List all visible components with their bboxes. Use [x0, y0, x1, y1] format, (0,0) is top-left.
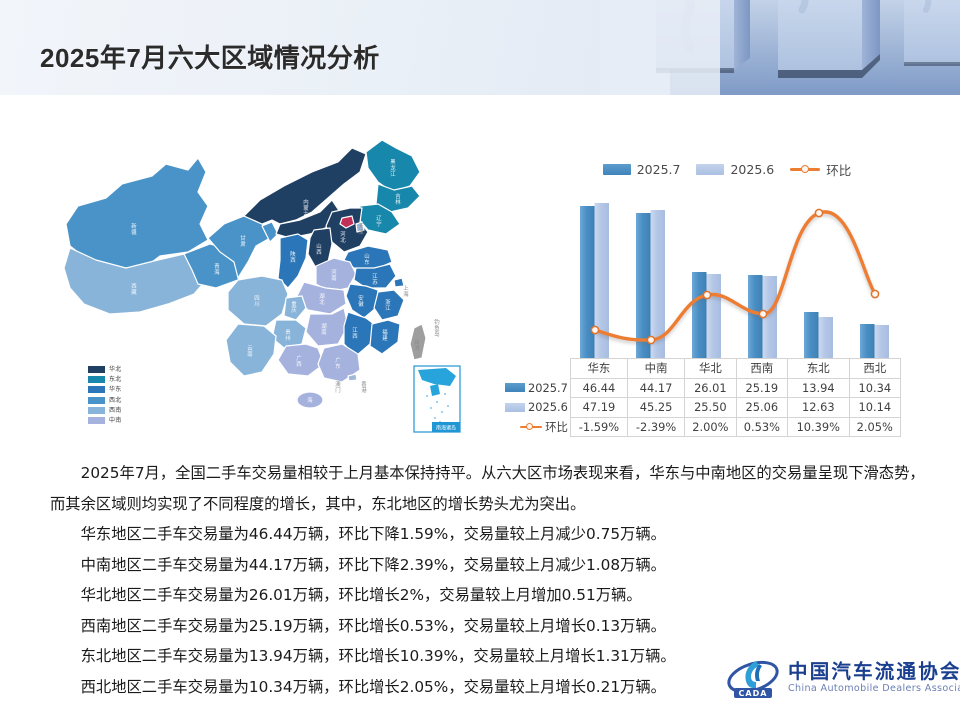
south-china-sea-inset: 南海诸岛: [414, 366, 460, 432]
legend-label-2025-6: 2025.6: [730, 162, 774, 177]
map-label-taiwan: 台: [414, 338, 419, 346]
map-label-macau: 澳: [335, 380, 341, 388]
line-markers: [591, 209, 878, 343]
svg-text:藏: 藏: [131, 288, 137, 296]
table-cell: 25.50: [685, 398, 736, 418]
bar-2025-7-huabei: [692, 272, 707, 358]
bar-2025-7-huadong: [580, 206, 595, 358]
table-cell: 0.53%: [736, 417, 787, 437]
svg-text:南: 南: [247, 350, 253, 358]
map-label-sichuan: 四: [254, 295, 259, 302]
table-col-header: 东北: [788, 359, 849, 379]
line-point-dongbei: [815, 209, 822, 216]
map-label-guangxi: 广: [296, 354, 302, 362]
table-cell: 12.63: [788, 398, 849, 418]
row-label: 2025.6: [528, 400, 568, 414]
line-point-xibei: [871, 290, 878, 297]
svg-text:南: 南: [321, 328, 327, 336]
svg-text:海: 海: [403, 290, 409, 298]
table-cell: -2.39%: [628, 417, 685, 437]
bar-2025-7-xibei: [860, 324, 875, 358]
legend-label-huanbi: 环比: [826, 160, 851, 179]
svg-text:庆: 庆: [291, 306, 297, 314]
table-cell: 46.44: [570, 378, 627, 398]
table-col-header: 西北: [849, 359, 900, 379]
svg-text:西: 西: [290, 257, 296, 264]
table-corner-cell: [505, 359, 570, 379]
table-row-header-2025-7: 2025.7: [505, 378, 570, 398]
table-cell: 47.19: [570, 398, 627, 418]
map-label-neimenggu: 内: [303, 198, 308, 206]
table-col-header: 中南: [628, 359, 685, 379]
legend-label: 华北: [109, 366, 122, 373]
chart-legend-item-huanbi[interactable]: 环比: [790, 160, 851, 179]
map-label-shaanxi: 陕: [290, 250, 296, 258]
map-label-liaoning: 辽: [376, 214, 382, 222]
map-label-fujian: 福: [382, 328, 388, 336]
region-combo-chart: 2025.7 2025.6 环比: [505, 158, 905, 448]
legend-label: 中南: [109, 417, 122, 424]
region-line-huadong: 华东地区二手车交易量为46.44万辆，环比下降1.59%，交易量较上月减少0.7…: [50, 519, 930, 550]
map-legend-item-dongbei: 东北: [88, 374, 122, 384]
table-cell: 10.14: [849, 398, 900, 418]
svg-text:川: 川: [254, 302, 259, 308]
legend-swatch-2025-6: [696, 164, 724, 175]
map-label-shandong: 山: [364, 252, 369, 260]
svg-text:北: 北: [319, 298, 325, 306]
chart-legend: 2025.7 2025.6 环比: [577, 158, 877, 180]
row-label: 2025.7: [528, 381, 568, 395]
map-label-gansu: 甘: [240, 234, 246, 242]
bar-2025-7-dongbei: [804, 312, 819, 358]
map-label-yunnan: 云: [247, 345, 253, 352]
legend-label: 西南: [109, 407, 122, 414]
svg-text:门: 门: [335, 386, 340, 394]
map-label-shanghai: 上: [403, 284, 409, 292]
table-col-header: 华北: [685, 359, 736, 379]
svg-text:东: 东: [335, 362, 341, 370]
svg-text:南: 南: [331, 274, 337, 282]
table-cell: 45.25: [628, 398, 685, 418]
svg-text:西: 西: [352, 333, 358, 340]
legend-label: 西北: [109, 397, 122, 404]
svg-text:西: 西: [296, 361, 302, 368]
intro-paragraph: 2025年7月，全国二手车交易量相较于上月基本保持持平。从六大区市场表现来看，华…: [50, 458, 930, 519]
map-label-tianjin: 天: [358, 223, 364, 230]
map-label-jilin: 吉: [395, 193, 401, 200]
map-legend-item-huabei: 华北: [88, 364, 122, 374]
svg-text:岛: 岛: [434, 330, 439, 338]
table-cell: 2.05%: [849, 417, 900, 437]
svg-text:州: 州: [285, 336, 290, 342]
line-point-huabei: [703, 291, 710, 298]
cada-emblem-icon: CADA: [726, 655, 780, 701]
slide-header: 2025年7月六大区域情况分析: [0, 0, 960, 95]
svg-text:建: 建: [382, 334, 388, 342]
chart-svg: [563, 188, 899, 358]
table-header-row: 华东 中南 华北 西南 东北 西北: [505, 359, 901, 379]
bar-2025-6-huabei: [707, 274, 722, 358]
map-label-shanxi: 山: [316, 242, 321, 250]
map-legend-item-huadong: 华东: [88, 385, 122, 395]
svg-text:林: 林: [395, 198, 401, 206]
table-col-header: 西南: [736, 359, 787, 379]
cada-logo-text: 中国汽车流通协会 China Automobile Dealers Associ…: [788, 661, 960, 695]
map-label-hongkong: 香: [361, 380, 367, 388]
map-label-zhejiang: 浙: [385, 298, 391, 306]
row-line-marker: [520, 423, 542, 432]
svg-text:北: 北: [340, 236, 346, 244]
legend-label: 华东: [109, 386, 122, 393]
map-legend-item-zhongnan: 中南: [88, 415, 122, 425]
svg-text:江: 江: [390, 171, 396, 178]
svg-text:鱼: 鱼: [434, 324, 440, 332]
table-cell: 10.34: [849, 378, 900, 398]
map-label-jiangsu: 江: [372, 273, 378, 280]
map-label-chongqing: 重: [291, 300, 297, 308]
legend-swatch: [88, 397, 105, 404]
table-row-header-2025-6: 2025.6: [505, 398, 570, 418]
table-row: 2025.6 47.19 45.25 25.50 25.06 12.63 10.…: [505, 398, 901, 418]
legend-swatch-2025-7: [603, 164, 631, 175]
svg-text:港: 港: [361, 386, 367, 394]
legend-line-marker: [790, 164, 820, 175]
map-label-hainan: 海: [307, 396, 313, 404]
bar-2025-7-zhongnan: [636, 213, 651, 358]
page-title: 2025年7月六大区域情况分析: [40, 38, 380, 75]
slide-root: 2025年7月六大区域情况分析: [0, 0, 960, 720]
svg-text:江: 江: [385, 305, 391, 312]
chart-legend-item-2025-7[interactable]: 2025.7: [603, 162, 681, 177]
map-legend-item-xinan: 西南: [88, 405, 122, 415]
table-cell: 10.39%: [788, 417, 849, 437]
region-line-huabei: 华北地区二手车交易量为26.01万辆，环比增长2%，交易量较上月增加0.51万辆…: [50, 580, 930, 611]
map-label-jiangxi: 江: [352, 327, 358, 334]
map-label-xinjiang: 新: [131, 222, 137, 230]
svg-text:津: 津: [358, 229, 364, 236]
legend-swatch: [88, 417, 105, 424]
legend-swatch: [88, 407, 105, 414]
svg-text:海: 海: [214, 268, 220, 276]
table-row-header-huanbi: 环比: [505, 417, 570, 437]
map-label-qinghai: 青: [214, 262, 220, 270]
map-label-diaoyudao: 钓: [434, 318, 440, 326]
line-point-zhongnan: [647, 336, 654, 343]
legend-swatch: [88, 366, 105, 373]
table-cell: 25.19: [736, 378, 787, 398]
map-label-guangdong: 广: [335, 356, 341, 364]
map-label-guizhou: 贵: [285, 328, 291, 336]
bar-2025-6-dongbei: [819, 317, 834, 358]
inset-label: 南海诸岛: [436, 425, 456, 432]
row-label: 环比: [545, 419, 568, 435]
bar-2025-6-xibei: [875, 325, 890, 358]
table-cell: -1.59%: [570, 417, 627, 437]
svg-text:西: 西: [316, 249, 322, 256]
svg-text:苏: 苏: [372, 278, 378, 286]
table-cell: 13.94: [788, 378, 849, 398]
svg-text:龙: 龙: [390, 164, 396, 172]
table-cell: 44.17: [628, 378, 685, 398]
map-legend: 华北 东北 华东 西北 西南 中南: [88, 364, 122, 426]
svg-text:肃: 肃: [240, 240, 246, 248]
cada-logo: CADA 中国汽车流通协会 China Automobile Dealers A…: [726, 652, 940, 704]
cada-name-en: China Automobile Dealers Association: [788, 683, 960, 695]
legend-label: 东北: [109, 376, 122, 383]
svg-text:宁: 宁: [376, 220, 381, 228]
legend-swatch: [88, 386, 105, 393]
map-label-xizang: 西: [131, 283, 137, 290]
chart-legend-item-2025-6[interactable]: 2025.6: [696, 162, 774, 177]
row-swatch-2025-7: [505, 383, 525, 392]
line-point-xinan: [759, 310, 766, 317]
china-region-map: 新 疆 西 藏 青 海 甘 肃 内 蒙 古 黑 龙 江 吉 林 辽 宁 河 北: [48, 128, 468, 453]
svg-text:蒙: 蒙: [303, 204, 309, 212]
region-line-zhongnan: 中南地区二手车交易量为44.17万辆，环比下降2.39%，交易量较上月减少1.0…: [50, 550, 930, 581]
map-label-anhui: 安: [358, 294, 364, 302]
table-cell: 2.00%: [685, 417, 736, 437]
map-legend-item-xibei: 西北: [88, 395, 122, 405]
legend-label-2025-7: 2025.7: [637, 162, 681, 177]
legend-swatch: [88, 376, 105, 383]
map-label-hunan: 湖: [321, 322, 326, 330]
table-col-header: 华东: [570, 359, 627, 379]
map-label-hebei: 河: [340, 230, 346, 238]
line-point-huadong: [591, 326, 598, 333]
decorative-cubes-image: [600, 0, 960, 95]
table-row: 2025.7 46.44 44.17 26.01 25.19 13.94 10.…: [505, 378, 901, 398]
cada-name-cn: 中国汽车流通协会: [788, 661, 960, 683]
map-label-heilongjiang: 黑: [390, 159, 396, 166]
region-line-xinan: 西南地区二手车交易量为25.19万辆，环比增长0.53%，交易量较上月增长0.1…: [50, 611, 930, 642]
cada-mark-text: CADA: [739, 689, 768, 698]
row-swatch-2025-6: [505, 403, 525, 412]
chart-data-table: 华东 中南 华北 西南 东北 西北 2025.7 46.44 44.17 26.…: [505, 358, 901, 437]
svg-text:疆: 疆: [131, 229, 137, 236]
table-cell: 26.01: [685, 378, 736, 398]
chart-plot-area: [563, 188, 899, 358]
svg-text:徽: 徽: [358, 300, 364, 308]
table-row: 环比 -1.59% -2.39% 2.00% 0.53% 10.39% 2.05…: [505, 417, 901, 437]
svg-text:东: 东: [364, 258, 370, 266]
map-label-henan: 河: [331, 268, 337, 276]
svg-text:古: 古: [303, 210, 309, 218]
map-label-hubei: 湖: [319, 292, 324, 300]
table-cell: 25.06: [736, 398, 787, 418]
svg-text:湾: 湾: [414, 344, 420, 352]
